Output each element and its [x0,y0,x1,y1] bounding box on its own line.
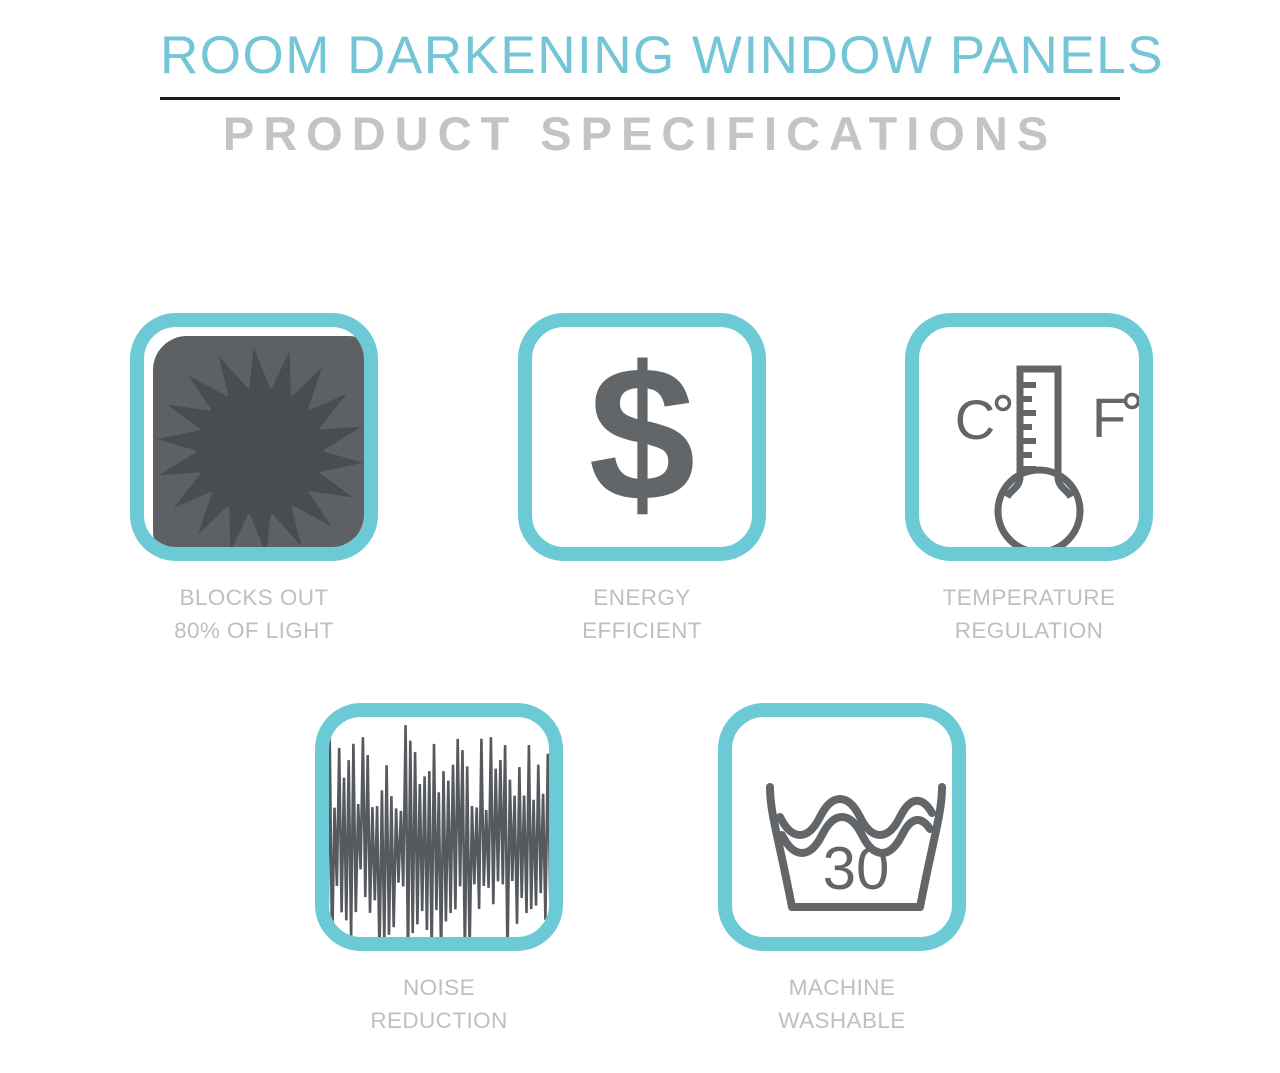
feature-machine-washable: 30 MACHINE WASHABLE [718,703,966,951]
feature-caption: TEMPERATURE REGULATION [865,581,1193,648]
feature-blocks-out-light: BLOCKS OUT 80% OF LIGHT [130,313,378,561]
caption-line-1: TEMPERATURE [865,581,1193,614]
feature-tile: $ [518,313,766,561]
caption-line-2: REDUCTION [275,1004,603,1037]
fahrenheit-degree-icon [1126,395,1139,408]
fahrenheit-label: F [1092,386,1126,449]
feature-tile [130,313,378,561]
feature-temperature-regulation: C F TEMPERATURE REGULATION [905,313,1153,561]
caption-line-2: EFFICIENT [478,614,806,647]
feature-caption: ENERGY EFFICIENT [478,581,806,648]
feature-caption: NOISE REDUCTION [275,971,603,1038]
feature-grid: BLOCKS OUT 80% OF LIGHT $ ENERGY EFFICIE… [0,0,1280,1073]
sound-waveform-icon [329,717,549,937]
product-specifications-infographic: ROOM DARKENING WINDOW PANELS PRODUCT SPE… [0,0,1280,1073]
feature-energy-efficient: $ ENERGY EFFICIENT [518,313,766,561]
caption-line-2: REGULATION [865,614,1193,647]
thermometer-icon: C F [919,327,1139,547]
feature-tile [315,703,563,951]
caption-line-2: 80% OF LIGHT [90,614,418,647]
blackout-sun-icon [144,327,364,547]
feature-tile: C F [905,313,1153,561]
feature-caption: BLOCKS OUT 80% OF LIGHT [90,581,418,648]
caption-line-2: WASHABLE [678,1004,1006,1037]
wash-tub-icon: 30 [732,717,952,937]
dollar-sign-icon: $ [532,327,752,547]
feature-tile: 30 [718,703,966,951]
celsius-degree-icon [997,397,1010,410]
wash-temperature-label: 30 [823,835,890,902]
celsius-label: C [955,388,995,451]
feature-caption: MACHINE WASHABLE [678,971,1006,1038]
caption-line-1: MACHINE [678,971,1006,1004]
feature-noise-reduction: NOISE REDUCTION [315,703,563,951]
caption-line-1: NOISE [275,971,603,1004]
caption-line-1: ENERGY [478,581,806,614]
caption-line-1: BLOCKS OUT [90,581,418,614]
